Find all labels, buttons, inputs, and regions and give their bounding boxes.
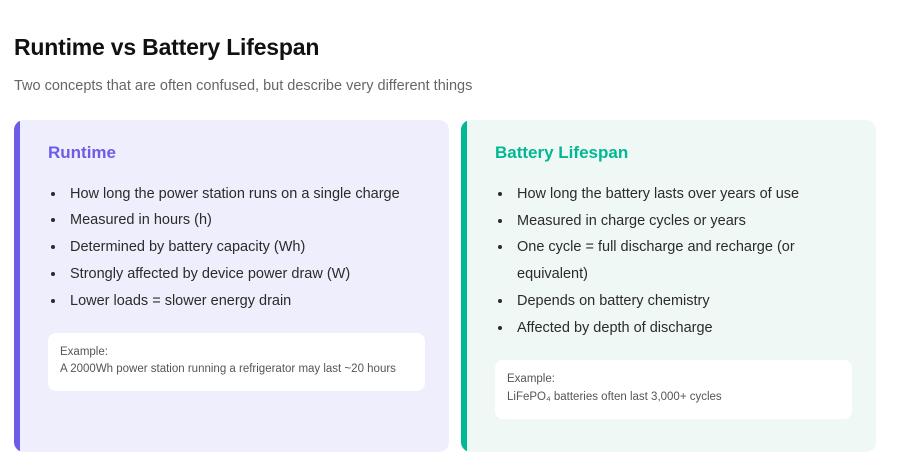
list-item: Determined by battery capacity (Wh) [66, 234, 425, 261]
list-item: One cycle = full discharge and recharge … [513, 234, 852, 288]
list-item: Affected by depth of discharge [513, 315, 852, 342]
card-battery-lifespan-bullet-list: How long the battery lasts over years of… [495, 181, 852, 343]
list-item: Measured in hours (h) [66, 207, 425, 234]
list-item: Measured in charge cycles or years [513, 208, 852, 235]
list-item: Depends on battery chemistry [513, 288, 852, 315]
accent-bar-teal [461, 120, 467, 452]
card-runtime-bullet-list: How long the power station runs on a sin… [48, 181, 425, 315]
card-runtime-example-box: Example: A 2000Wh power station running … [48, 333, 425, 392]
list-item: Lower loads = slower energy drain [66, 288, 425, 315]
example-text: A 2000Wh power station running a refrige… [60, 361, 413, 379]
example-label: Example: [60, 344, 413, 362]
page-subtitle: Two concepts that are often confused, bu… [14, 62, 883, 96]
card-battery-lifespan-heading: Battery Lifespan [495, 142, 852, 164]
example-text: LiFePO₄ batteries often last 3,000+ cycl… [507, 389, 840, 407]
card-runtime: Runtime How long the power station runs … [14, 120, 449, 452]
card-runtime-heading: Runtime [48, 142, 425, 164]
accent-bar-purple [14, 120, 20, 452]
list-item: Strongly affected by device power draw (… [66, 261, 425, 288]
card-battery-lifespan-example-box: Example: LiFePO₄ batteries often last 3,… [495, 360, 852, 419]
comparison-page: Runtime vs Battery Lifespan Two concepts… [0, 0, 897, 469]
list-item: How long the battery lasts over years of… [513, 181, 852, 208]
card-battery-lifespan: Battery Lifespan How long the battery la… [461, 120, 876, 452]
example-label: Example: [507, 371, 840, 389]
list-item: How long the power station runs on a sin… [66, 181, 425, 208]
comparison-cards: Runtime How long the power station runs … [14, 120, 883, 452]
page-title: Runtime vs Battery Lifespan [14, 0, 883, 62]
